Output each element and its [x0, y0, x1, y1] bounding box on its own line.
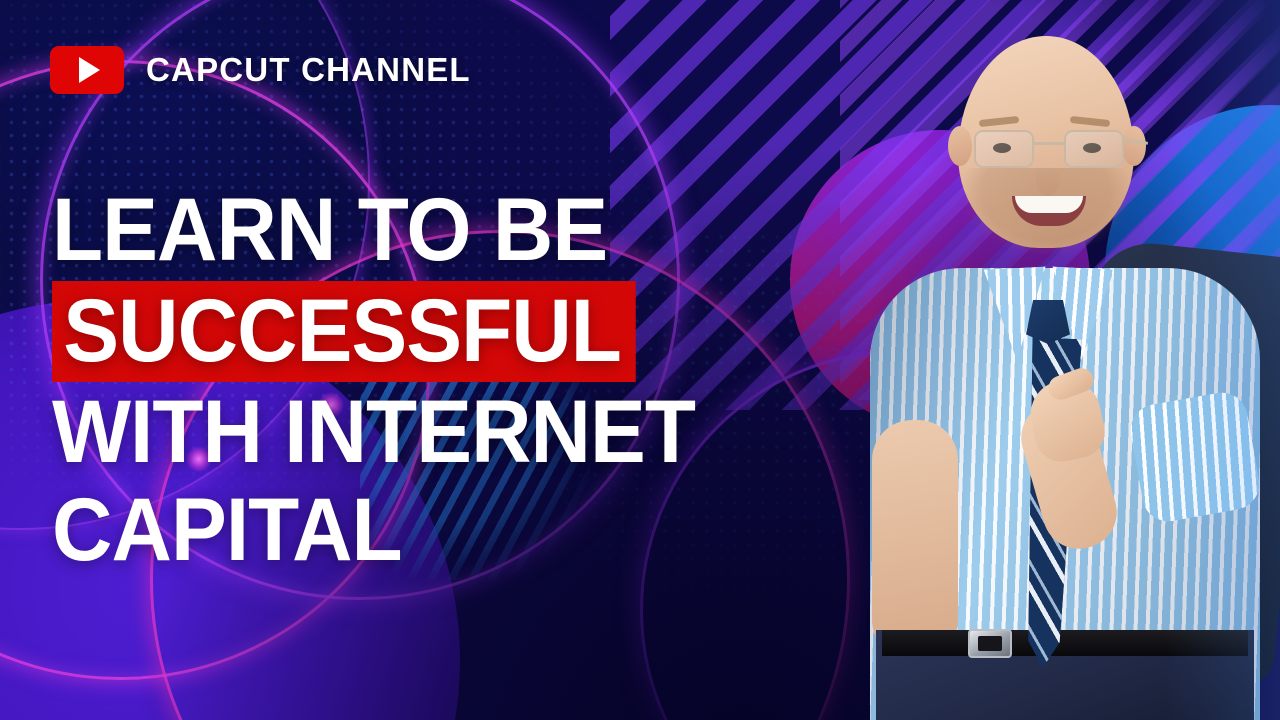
- teeth: [1015, 196, 1083, 213]
- headline-line-3: WITH INTERNET: [52, 388, 804, 475]
- headline-highlighted-word: SUCCESSFUL: [52, 281, 636, 382]
- ear-right: [1122, 126, 1146, 166]
- thumbnail-canvas: CAPCUT CHANNEL LEARN TO BE SUCCESSFUL WI…: [0, 0, 1280, 720]
- nose: [1036, 166, 1060, 196]
- headline-highlight-row: SUCCESSFUL: [52, 273, 852, 388]
- play-triangle-glyph: [79, 57, 100, 83]
- channel-name-label: CAPCUT CHANNEL: [146, 51, 471, 89]
- eyeglasses-bridge: [1034, 142, 1064, 145]
- eyeglasses-lens-right: [1064, 130, 1124, 168]
- rolled-sleeve: [1127, 389, 1264, 526]
- headline-line-1: LEARN TO BE: [52, 186, 804, 273]
- ear-left: [948, 126, 972, 166]
- presenter-figure: [836, 0, 1280, 720]
- headline-block: LEARN TO BE SUCCESSFUL WITH INTERNET CAP…: [52, 186, 852, 573]
- play-icon[interactable]: [50, 46, 124, 94]
- eyeglasses-lens-left: [974, 130, 1034, 168]
- headline-line-4: CAPITAL: [52, 486, 804, 573]
- left-arm: [872, 420, 958, 660]
- belt-buckle-inner: [978, 636, 1002, 651]
- belt: [882, 630, 1248, 656]
- channel-badge[interactable]: CAPCUT CHANNEL: [50, 46, 471, 94]
